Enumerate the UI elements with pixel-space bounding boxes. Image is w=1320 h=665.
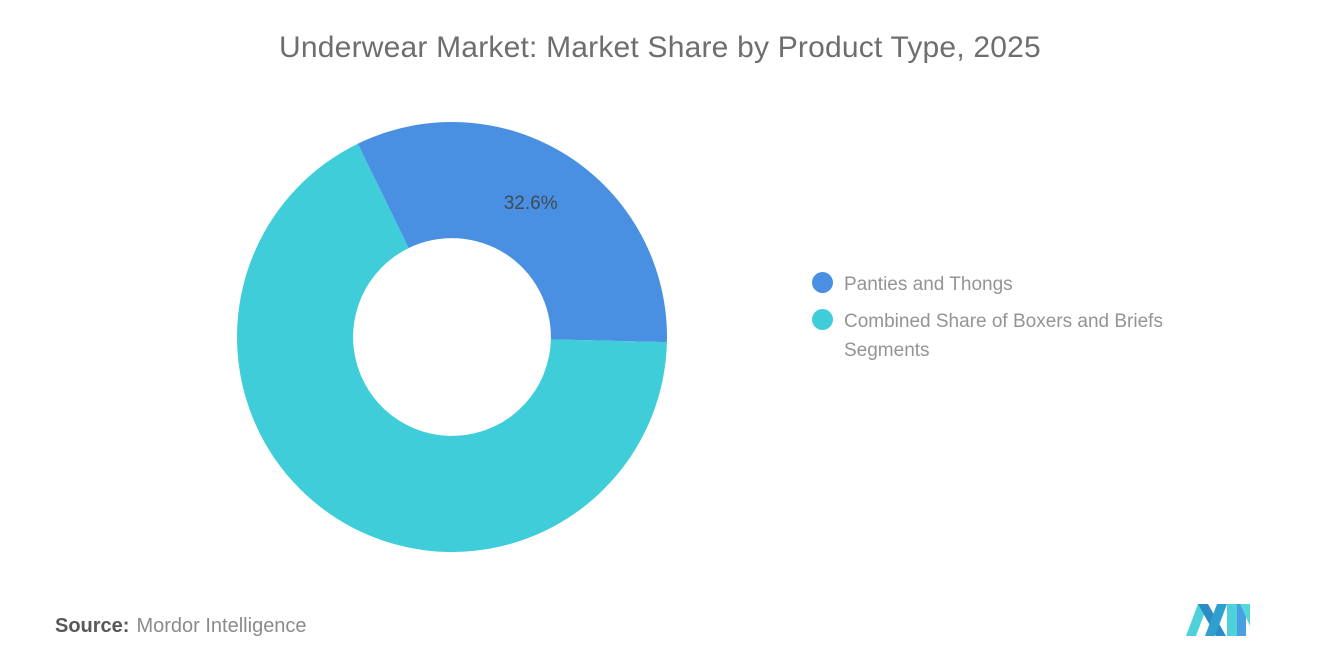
- legend-label-0: Panties and Thongs: [844, 270, 1013, 299]
- chart-title: Underwear Market: Market Share by Produc…: [0, 28, 1320, 68]
- legend-swatch-icon-0: [812, 272, 833, 293]
- source-value: Mordor Intelligence: [136, 615, 306, 637]
- source-line: Source:Mordor Intelligence: [55, 612, 307, 640]
- donut-chart: 32.6%: [237, 122, 667, 552]
- chart-container: Underwear Market: Market Share by Produc…: [0, 0, 1320, 665]
- legend-label-1: Combined Share of Boxers and Briefs Segm…: [844, 307, 1224, 365]
- legend-item-panties-and-thongs[interactable]: Panties and Thongs: [812, 270, 1242, 299]
- mordor-intelligence-logo-icon: [1184, 598, 1254, 638]
- logo-svg: [1184, 598, 1254, 638]
- chart-legend: Panties and Thongs Combined Share of Box…: [812, 270, 1242, 373]
- legend-item-combined-boxers-briefs[interactable]: Combined Share of Boxers and Briefs Segm…: [812, 307, 1242, 365]
- donut-slices: [237, 122, 667, 552]
- source-label: Source:: [55, 615, 129, 637]
- donut-slice-panties-and-thongs[interactable]: [358, 122, 667, 342]
- legend-swatch-icon-1: [812, 309, 833, 330]
- donut-chart-svg: [237, 122, 667, 552]
- donut-slice-label-0: 32.6%: [504, 193, 558, 215]
